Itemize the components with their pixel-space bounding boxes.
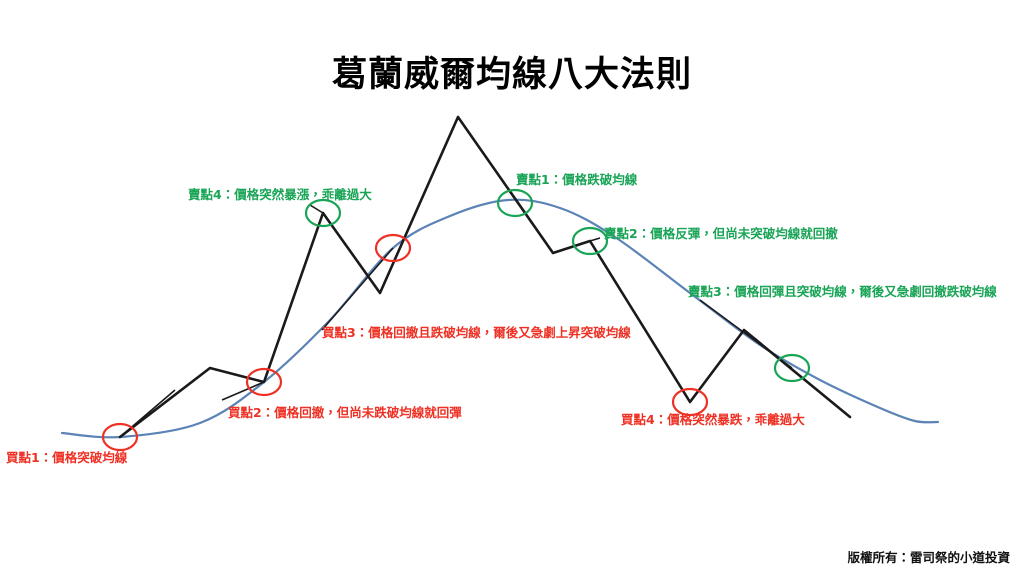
page-title: 葛蘭威爾均線八大法則 bbox=[0, 56, 1024, 95]
annotation-sell-3: 賣點3：價格回彈且突破均線，爾後又急劇回撤跌破均線 bbox=[688, 286, 997, 299]
sell3-leader-line bbox=[700, 300, 792, 368]
annotation-buy-2: 買點2：價格回撤，但尚未跌破均線就回彈 bbox=[228, 407, 462, 420]
sell2-leader-line bbox=[590, 238, 600, 241]
annotation-sell-1: 賣點1：價格跌破均線 bbox=[516, 174, 637, 187]
annotation-sell-2: 賣點2：價格反彈，但尚未突破均線就回撤 bbox=[604, 228, 838, 241]
price-line bbox=[120, 117, 850, 437]
annotation-buy-1: 買點1：價格突破均線 bbox=[6, 452, 127, 465]
annotation-sell-4: 賣點4：價格突然暴漲，乖離過大 bbox=[188, 189, 372, 202]
copyright-notice: 版權所有：雷司祭的小道投資 bbox=[847, 552, 1010, 565]
sell-marker-sell1[interactable] bbox=[498, 190, 532, 216]
annotation-buy-4: 買點4：價格突然暴跌，乖離過大 bbox=[621, 414, 805, 427]
buy1-leader-line bbox=[120, 390, 175, 437]
price-line-group bbox=[120, 117, 850, 437]
sell4-leader-line bbox=[310, 205, 323, 213]
annotation-buy-3: 買點3：價格回撤且跌破均線，爾後又急劇上昇突破均線 bbox=[322, 327, 631, 340]
chart-canvas: 葛蘭威爾均線八大法則 買點1：價格突破均線 買點2：價格回撤，但尚未跌破均線就回… bbox=[0, 0, 1024, 574]
